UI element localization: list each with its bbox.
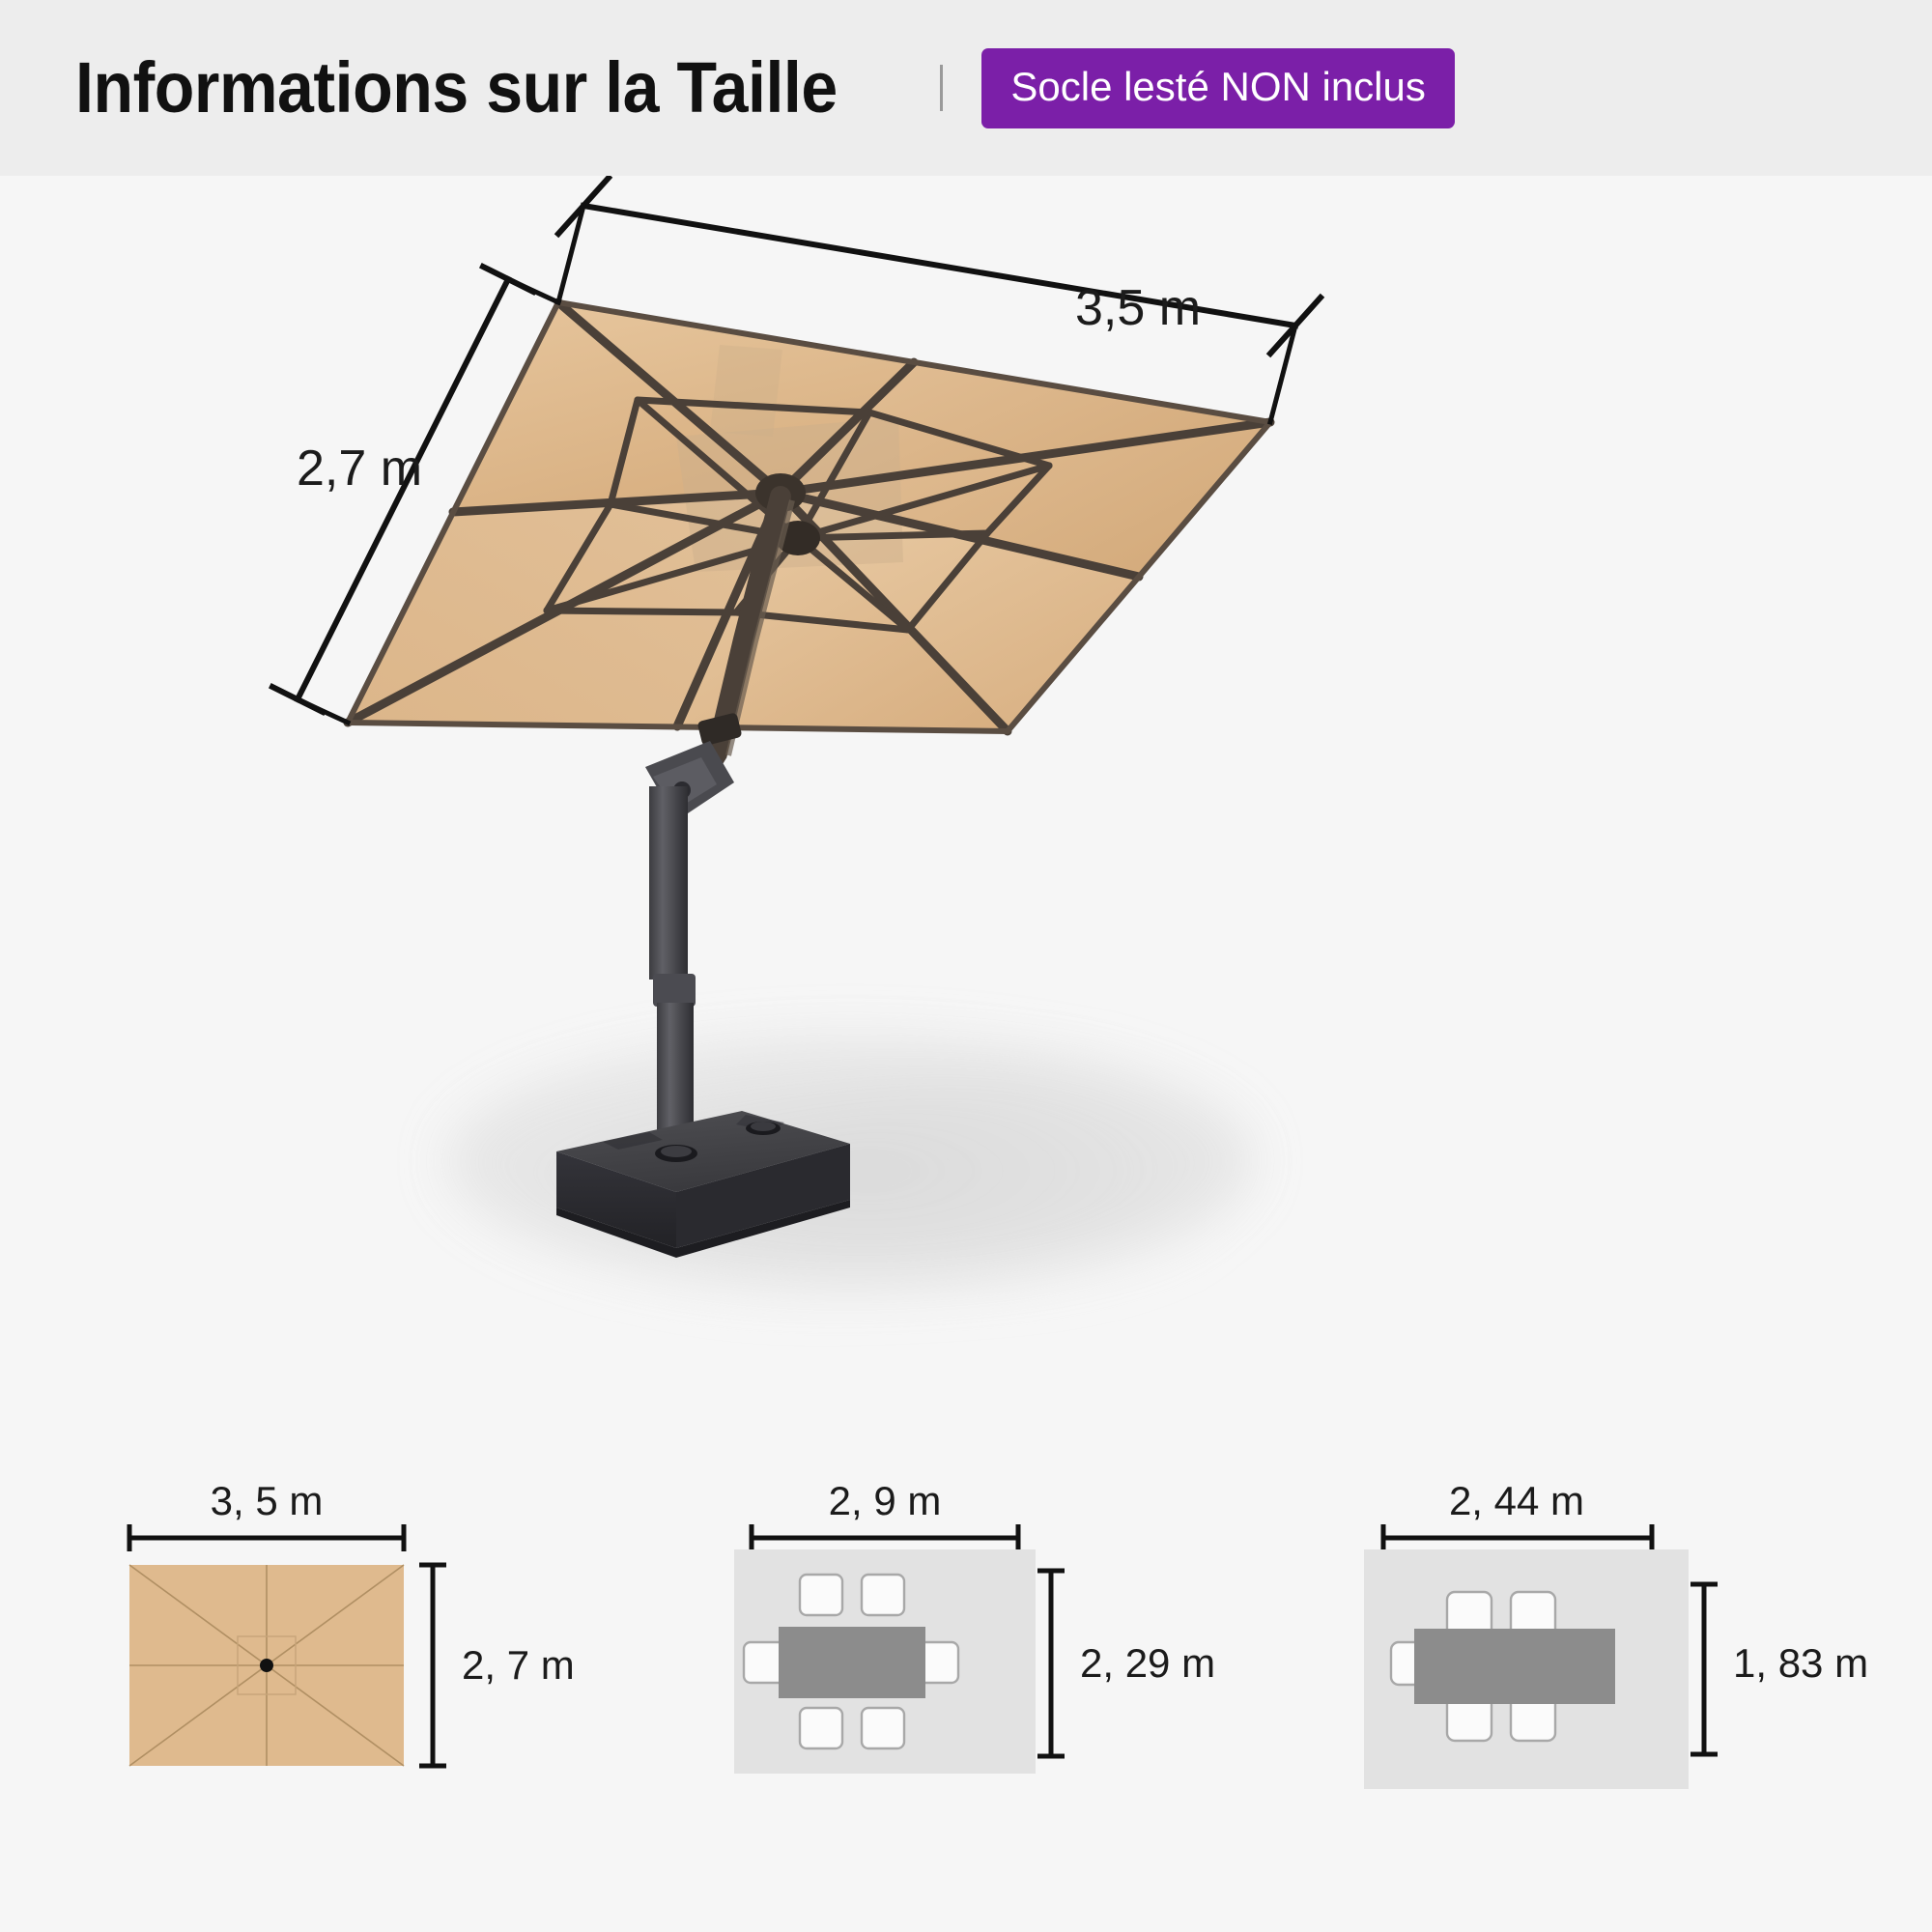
panel-canopy-footprint: 3, 5 m: [77, 1478, 618, 1932]
panel-0-side-label: 2, 7 m: [462, 1642, 575, 1688]
panel-table-spaced: 2, 9 m: [696, 1478, 1294, 1932]
header-content: Informations sur la Taille Socle lesté N…: [75, 0, 1455, 176]
panel-1-top-label: 2, 9 m: [829, 1478, 942, 1523]
panel-1-top-dimension: [752, 1524, 1018, 1551]
panel-1-table: [779, 1627, 925, 1698]
status-badge: Socle lesté NON inclus: [981, 48, 1455, 128]
footprint-panels: 3, 5 m: [0, 1478, 1932, 1932]
panel-0-center-dot: [260, 1659, 273, 1672]
panel-table-compact: 2, 44 m: [1323, 1478, 1922, 1932]
panel-2-top-dimension: [1383, 1524, 1652, 1551]
hero-illustration: 3,5 m 2,7 m: [0, 176, 1932, 1449]
panel-1-side-dimension: [1037, 1571, 1065, 1756]
dimension-width-label: 3,5 m: [1075, 280, 1201, 336]
panel-0-side-dimension: [419, 1565, 446, 1766]
size-information-infographic: Informations sur la Taille Socle lesté N…: [0, 0, 1932, 1932]
header-bar: Informations sur la Taille Socle lesté N…: [0, 0, 1932, 176]
panel-2-side-dimension: [1690, 1584, 1718, 1754]
dimension-depth-label: 2,7 m: [297, 440, 422, 497]
panel-0-top-dimension: [129, 1524, 404, 1551]
panel-2-top-label: 2, 44 m: [1449, 1478, 1584, 1523]
umbrella-diagram: 3,5 m 2,7 m: [0, 176, 1932, 1449]
page-title: Informations sur la Taille: [75, 52, 838, 124]
panel-0-top-label: 3, 5 m: [211, 1478, 324, 1523]
panel-1-side-label: 2, 29 m: [1080, 1640, 1215, 1686]
title-divider: [940, 65, 943, 111]
panel-2-side-label: 1, 83 m: [1733, 1640, 1868, 1686]
panel-2-table: [1414, 1629, 1615, 1704]
